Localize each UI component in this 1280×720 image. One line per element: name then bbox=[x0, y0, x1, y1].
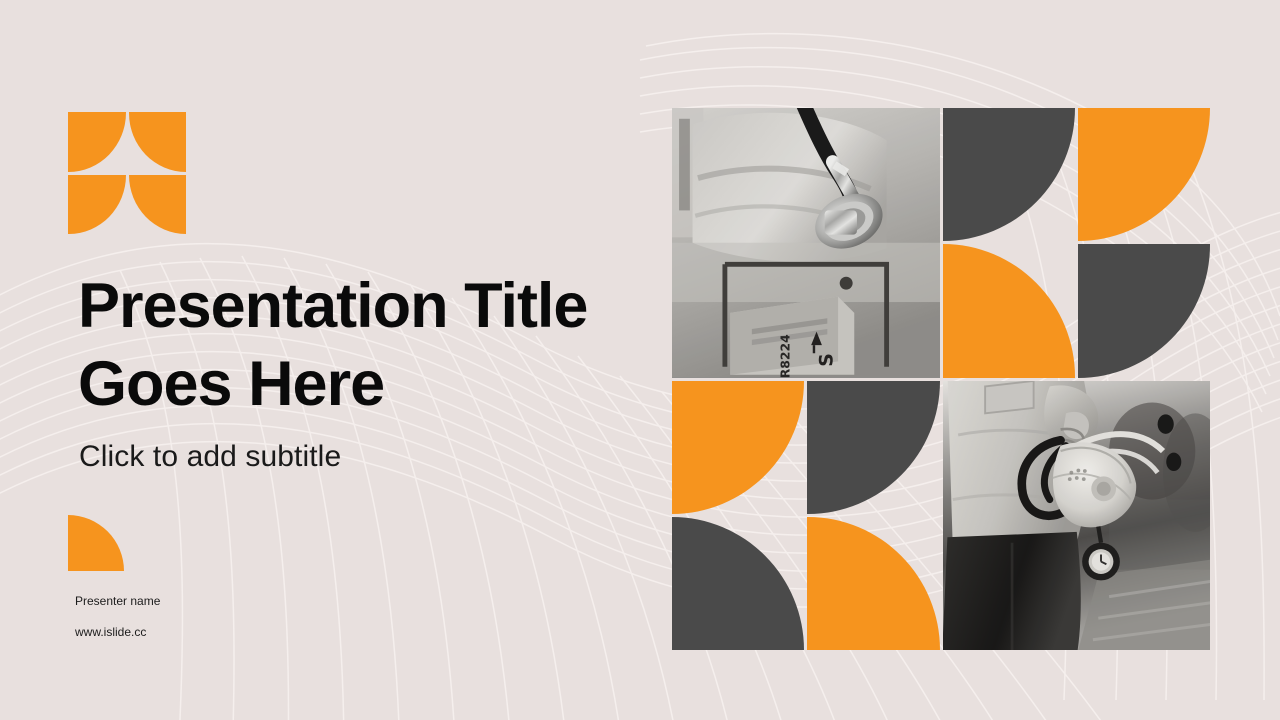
nurse-holding-mask-and-stethoscope-photo[interactable] bbox=[943, 381, 1211, 651]
mosaic-shape-dark-r1c3 bbox=[943, 108, 1075, 241]
logo-tile-bottom-right bbox=[129, 175, 187, 235]
logo-tile-top-left bbox=[68, 112, 126, 172]
slide-footer: Presenter name www.islide.cc bbox=[75, 595, 160, 638]
quarter-circle-bottom-right-dark bbox=[943, 108, 1075, 241]
quarter-circle-bottom-right-orange-2 bbox=[672, 381, 804, 514]
quarter-circle-bottom-right-orange bbox=[1078, 108, 1210, 241]
logo-tile-top-right bbox=[129, 112, 187, 172]
mosaic-shape-dark-r4c1 bbox=[672, 517, 804, 650]
mosaic-shape-orange-r1c4 bbox=[1078, 108, 1210, 241]
mosaic-shape-dark-r3c2 bbox=[807, 381, 939, 514]
image-mosaic: UR8224 S bbox=[672, 108, 1210, 650]
mosaic-shape-orange-r4c2 bbox=[807, 517, 939, 650]
quarter-circle-bottom-right-dark-3 bbox=[807, 381, 939, 514]
quarter-circle-top-right-orange-2 bbox=[807, 517, 939, 650]
quarter-circle-top-right-orange bbox=[943, 244, 1075, 377]
mosaic-shape-dark-r2c4 bbox=[1078, 244, 1210, 377]
presenter-name-text[interactable]: Presenter name bbox=[75, 595, 160, 607]
stethoscope-on-hospital-bed-photo[interactable]: UR8224 S bbox=[672, 108, 940, 378]
presentation-slide: Presentation Title Goes Here Click to ad… bbox=[0, 0, 1280, 720]
website-text[interactable]: www.islide.cc bbox=[75, 626, 160, 638]
quarter-circle-top-right-dark bbox=[672, 517, 804, 650]
mosaic-shape-orange-r2c3 bbox=[943, 244, 1075, 377]
quarter-circle-bottom-right-dark-2 bbox=[1078, 244, 1210, 377]
slide-title[interactable]: Presentation Title Goes Here bbox=[78, 267, 648, 423]
logo-tile-bottom-left bbox=[68, 175, 126, 235]
accent-quarter-circle-shape bbox=[68, 515, 124, 571]
mosaic-shape-orange-r3c1 bbox=[672, 381, 804, 514]
islide-logo bbox=[68, 112, 186, 234]
slide-subtitle[interactable]: Click to add subtitle bbox=[79, 440, 341, 474]
